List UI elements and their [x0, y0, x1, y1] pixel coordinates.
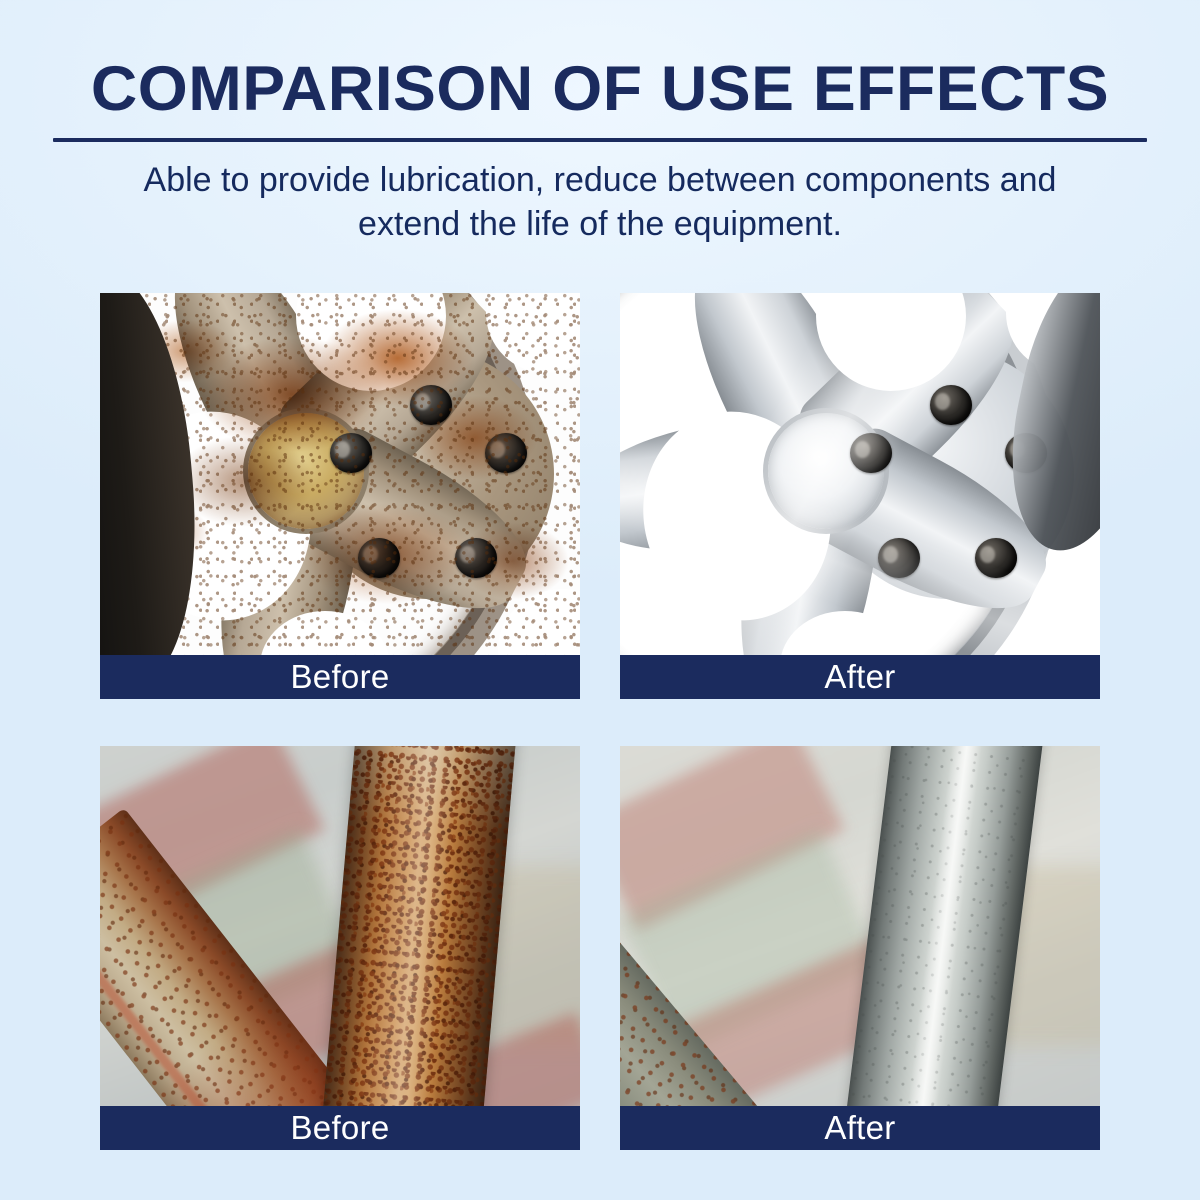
wheel-lug-nut [485, 433, 527, 473]
wheel-lug-nut [330, 433, 372, 473]
wheel-lug-nut [878, 538, 920, 578]
wheel-spoke-gap [1018, 589, 1100, 655]
title-divider [53, 138, 1147, 142]
wheel-lug-nut [455, 538, 497, 578]
label-bar-before: Before [100, 655, 580, 699]
comparison-row-pipe: Before [100, 746, 1100, 1150]
wheel-scene-rusty [100, 293, 580, 655]
panel-pipe-before[interactable]: Before [100, 746, 580, 1150]
panel-pipe-after[interactable]: After [620, 746, 1100, 1150]
wheel-scene-clean [620, 293, 1100, 655]
pipe-scene-clean [620, 746, 1100, 1106]
subtitle-line-2: extend the life of the equipment. [45, 202, 1155, 246]
comparison-row-wheel: Before [100, 293, 1100, 699]
photo-pipe-rusty [100, 746, 580, 1106]
comparison-grid: Before [100, 293, 1100, 1150]
subtitle-line-1: Able to provide lubrication, reduce betw… [45, 158, 1155, 202]
photo-wheel-rusty [100, 293, 580, 655]
header: COMPARISON OF USE EFFECTS Able to provid… [0, 0, 1200, 246]
panel-wheel-after[interactable]: After [620, 293, 1100, 699]
wheel-lug-nut [850, 433, 892, 473]
comparison-infographic: COMPARISON OF USE EFFECTS Able to provid… [0, 0, 1200, 1200]
page-title: COMPARISON OF USE EFFECTS [0, 58, 1200, 121]
label-bar-after: After [620, 655, 1100, 699]
wheel-lug-nut [410, 385, 452, 425]
wheel-lug-nut [358, 538, 400, 578]
wheel-spoke-gap [498, 589, 580, 655]
wheel-lug-nut [975, 538, 1017, 578]
photo-wheel-clean [620, 293, 1100, 655]
label-bar-before: Before [100, 1106, 580, 1150]
photo-pipe-clean [620, 746, 1100, 1106]
subtitle: Able to provide lubrication, reduce betw… [45, 158, 1155, 246]
label-bar-after: After [620, 1106, 1100, 1150]
panel-wheel-before[interactable]: Before [100, 293, 580, 699]
pipe-scene-rusty [100, 746, 580, 1106]
wheel-lug-nut [930, 385, 972, 425]
